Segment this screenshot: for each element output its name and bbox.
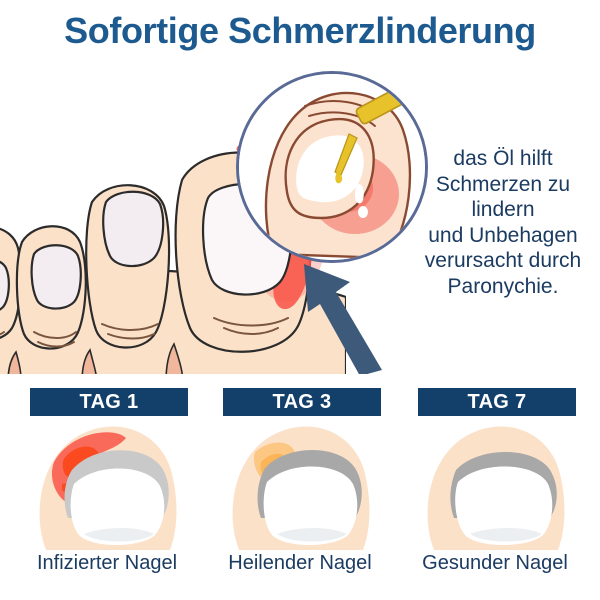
paragraph-line: lindern [408, 197, 598, 223]
nail-illustration-healthy [400, 422, 590, 550]
nail-illustration-infected [12, 422, 202, 550]
day-badge: TAG 7 [418, 388, 576, 416]
description-paragraph: das Öl hilft Schmerzen zu lindern und Un… [408, 146, 598, 300]
day-caption: Heilender Nagel [205, 552, 395, 575]
day-caption: Infizierter Nagel [12, 552, 202, 575]
paragraph-line: Schmerzen zu [408, 172, 598, 198]
magnified-toe-with-oil-dropper [236, 71, 428, 263]
promo-infographic: Sofortige Schmerzlinderung [0, 0, 600, 600]
paragraph-line: Paronychie. [408, 274, 598, 300]
day-caption: Gesunder Nagel [400, 552, 590, 575]
page-title: Sofortige Schmerzlinderung [0, 10, 600, 52]
hero-illustration: das Öl hilft Schmerzen zu lindern und Un… [0, 62, 600, 374]
paragraph-line: verursacht durch [408, 248, 598, 274]
timeline-step-day1: TAG 1 Infizierter Nagel [12, 382, 202, 600]
day-badge: TAG 1 [30, 388, 188, 416]
paragraph-line: und Unbehagen [408, 223, 598, 249]
timeline-step-day3: TAG 3 Heilender Nagel [205, 382, 395, 600]
day-badge: TAG 3 [223, 388, 381, 416]
timeline-step-day7: TAG 7 Gesunder Nagel [400, 382, 590, 600]
nail-illustration-healing [205, 422, 395, 550]
progress-timeline: TAG 1 Infizierter Nagel TAG 3 [0, 382, 600, 600]
pointer-arrow [296, 258, 396, 374]
paragraph-line: das Öl hilft [408, 146, 598, 172]
